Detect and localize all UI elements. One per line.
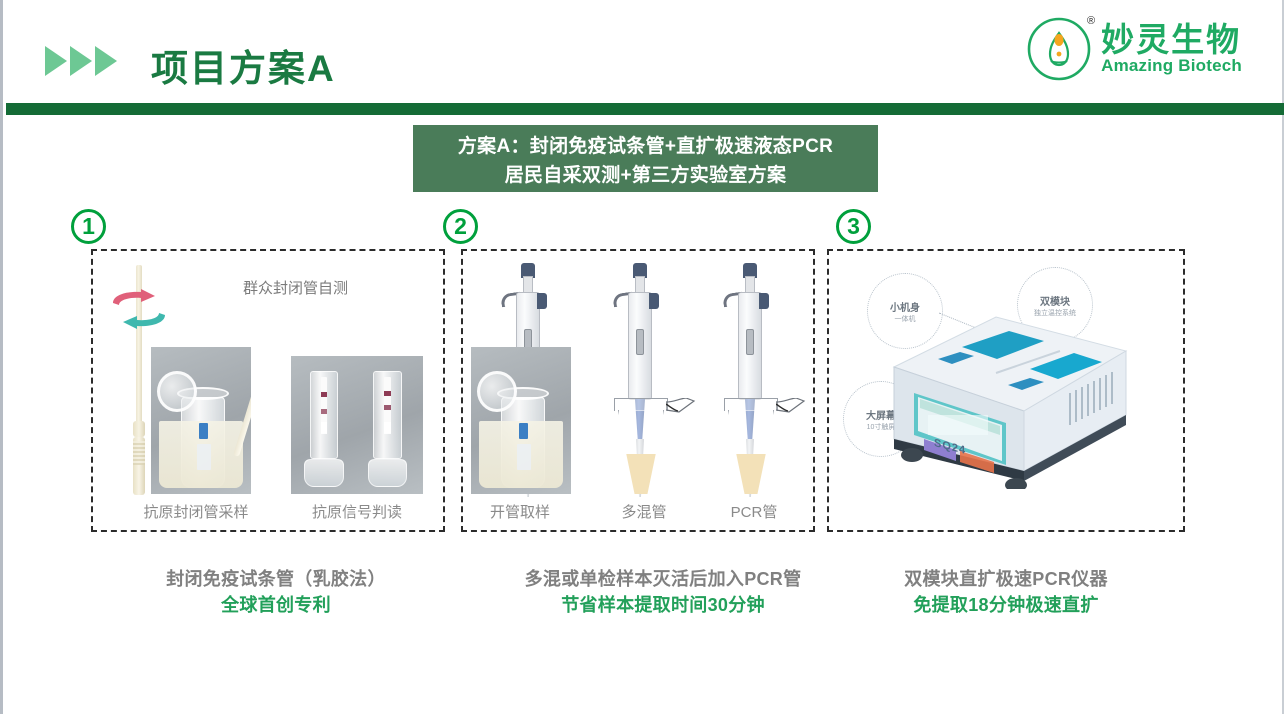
step-1-footer: 封闭免疫试条管（乳胶法） 全球首创专利	[76, 566, 476, 618]
rotating-swab-icon	[127, 265, 151, 495]
brand-name-cn: 妙灵生物	[1101, 23, 1242, 57]
step-2-footer-line-2: 节省样本提取时间30分钟	[463, 592, 863, 618]
multi-mix-tube-icon	[614, 398, 668, 494]
flask-circle-logo-icon: ®	[1026, 16, 1092, 82]
step-badge-2: 2	[443, 209, 478, 244]
scheme-banner: 方案A：封闭免疫试条管+直扩极速液态PCR 居民自采双测+第三方实验室方案	[413, 125, 878, 192]
slide-root: 项目方案A ® 妙灵生物 Amazing Biotech 方案A：封闭免疫试条管…	[0, 0, 1284, 714]
step-panel-1: 群众封闭管自测 抗原封闭管采样	[91, 249, 445, 532]
brand-name-en: Amazing Biotech	[1101, 57, 1242, 76]
pipette-into-tube-photo	[471, 347, 571, 494]
step-3-footer-line-2: 免提取18分钟极速直扩	[806, 592, 1206, 618]
step-badge-3: 3	[836, 209, 871, 244]
panel-1-item-2-label: 抗原信号判读	[291, 501, 423, 522]
panel-2-item-3-label: PCR管	[689, 501, 819, 522]
step-badge-1: 1	[71, 209, 106, 244]
pcr-tube-icon	[724, 398, 778, 494]
step-2-footer-line-1: 多混或单检样本灭活后加入PCR管	[463, 566, 863, 592]
registered-trademark-icon: ®	[1087, 15, 1095, 27]
step-panel-3: 小机身 一体机 双模块 独立温控系统 大屏幕 10寸触屏	[827, 249, 1185, 532]
chevron-right-icon	[45, 46, 117, 76]
banner-line-1: 方案A：封闭免疫试条管+直扩极速液态PCR	[458, 131, 833, 158]
sample-tube-photo	[151, 347, 251, 494]
step-panel-2: 开管取样 多混管	[461, 249, 815, 532]
step-1-footer-line-1: 封闭免疫试条管（乳胶法）	[76, 566, 476, 592]
test-strip-cassette-photo	[291, 356, 423, 494]
banner-line-2: 居民自采双测+第三方实验室方案	[505, 160, 787, 187]
step-1-footer-line-2: 全球首创专利	[76, 592, 476, 618]
panel-2-item-1-label: 开管取样	[455, 501, 585, 522]
pcr-instrument-image: SQ24	[884, 289, 1134, 489]
step-3-footer-line-1: 双模块直扩极速PCR仪器	[806, 566, 1206, 592]
panel-1-item-1-label: 抗原封闭管采样	[131, 501, 261, 522]
step-3-footer: 双模块直扩极速PCR仪器 免提取18分钟极速直扩	[806, 566, 1206, 618]
header-divider	[6, 103, 1284, 115]
page-title: 项目方案A	[151, 38, 336, 92]
slide-header: 项目方案A ® 妙灵生物 Amazing Biotech	[3, 0, 1282, 103]
brand-logo: ® 妙灵生物 Amazing Biotech	[1026, 16, 1242, 82]
step-2-footer: 多混或单检样本灭活后加入PCR管 节省样本提取时间30分钟	[463, 566, 863, 618]
